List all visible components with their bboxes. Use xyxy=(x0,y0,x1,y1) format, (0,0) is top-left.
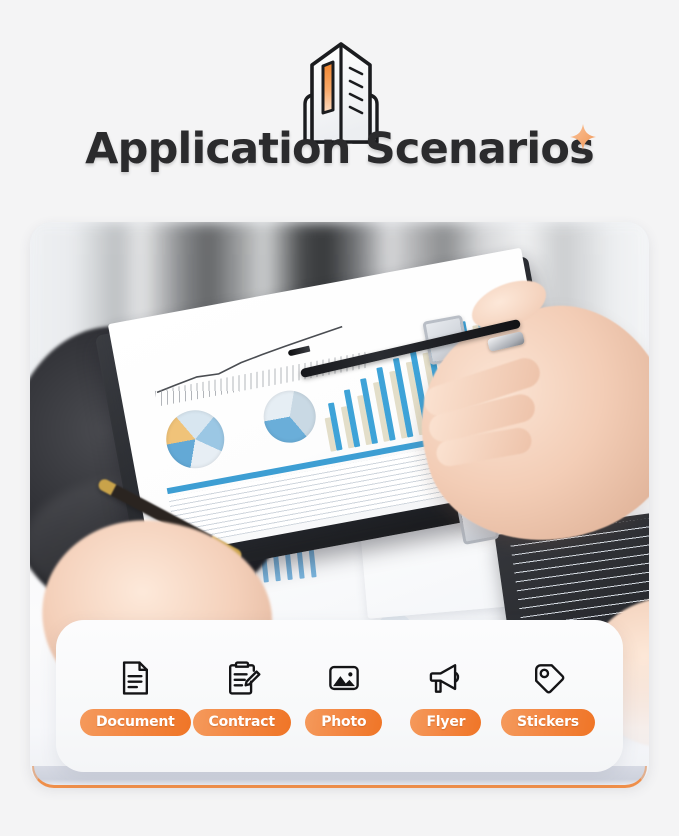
megaphone-icon xyxy=(424,656,468,700)
report-pie-chart-2 xyxy=(259,386,320,447)
image-icon xyxy=(322,656,366,700)
sparkle-icon xyxy=(568,122,598,152)
category-card: Document Contract xyxy=(56,620,623,772)
category-chip-label[interactable]: Photo xyxy=(305,709,382,736)
category-chip-label[interactable]: Flyer xyxy=(410,709,481,736)
category-item-flyer[interactable]: Flyer xyxy=(395,656,497,736)
document-icon xyxy=(113,656,157,700)
category-chip-label[interactable]: Stickers xyxy=(501,709,595,736)
category-item-stickers[interactable]: Stickers xyxy=(497,656,599,736)
category-item-photo[interactable]: Photo xyxy=(293,656,395,736)
category-chip-label[interactable]: Document xyxy=(80,709,191,736)
report-pie-chart-1 xyxy=(161,405,229,473)
tag-icon xyxy=(526,656,570,700)
category-chip-label[interactable]: Contract xyxy=(193,709,291,736)
category-item-document[interactable]: Document xyxy=(80,656,191,736)
category-list: Document Contract xyxy=(56,620,623,772)
category-item-contract[interactable]: Contract xyxy=(191,656,293,736)
page-header: Application Scenarios xyxy=(0,0,679,212)
page-title: Application Scenarios xyxy=(85,128,594,171)
clipboard-pencil-icon xyxy=(220,656,264,700)
